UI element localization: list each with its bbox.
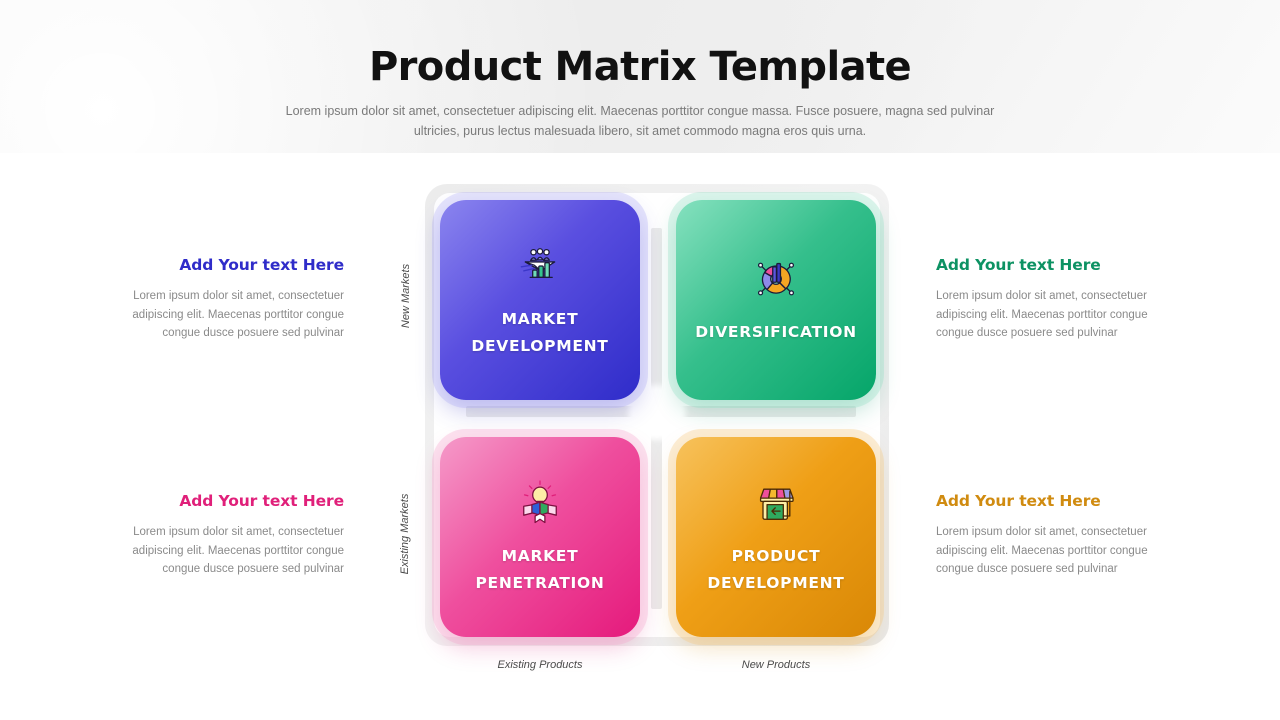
text-block-heading[interactable]: Add Your text Here: [936, 492, 1172, 510]
quadrant-label-line2: DEVELOPMENT: [707, 570, 844, 597]
text-block-heading[interactable]: Add Your text Here: [108, 256, 344, 274]
text-block-market-penetration: Add Your text Here Lorem ipsum dolor sit…: [108, 492, 344, 579]
idea-lightbulb-box-icon: [514, 477, 566, 529]
quadrant-label-market-development: MARKET DEVELOPMENT: [471, 306, 608, 360]
quadrant-label-line1: DIVERSIFICATION: [695, 319, 857, 346]
pie-chart-network-icon: [750, 253, 802, 305]
text-block-body[interactable]: Lorem ipsum dolor sit amet, consectetuer…: [108, 287, 344, 343]
page-title: Product Matrix Template: [0, 44, 1280, 90]
quadrant-label-market-penetration: MARKET PENETRATION: [476, 543, 605, 597]
text-block-market-development: Add Your text Here Lorem ipsum dolor sit…: [108, 256, 344, 343]
axis-label-existing-markets: Existing Markets: [399, 479, 411, 589]
matrix-center-cross: [628, 385, 686, 440]
quadrant-label-line2: PENETRATION: [476, 570, 605, 597]
text-block-body[interactable]: Lorem ipsum dolor sit amet, consectetuer…: [108, 523, 344, 579]
text-block-heading[interactable]: Add Your text Here: [936, 256, 1172, 274]
axis-label-new-markets: New Markets: [400, 246, 412, 346]
quadrant-label-diversification: DIVERSIFICATION: [695, 319, 857, 346]
quadrant-label-product-development: PRODUCT DEVELOPMENT: [707, 543, 844, 597]
quadrant-card-diversification[interactable]: DIVERSIFICATION: [676, 200, 876, 400]
axis-label-new-products: New Products: [676, 659, 876, 671]
quadrant-card-market-penetration[interactable]: MARKET PENETRATION: [440, 437, 640, 637]
text-block-body[interactable]: Lorem ipsum dolor sit amet, consectetuer…: [936, 287, 1172, 343]
text-block-diversification: Add Your text Here Lorem ipsum dolor sit…: [936, 256, 1172, 343]
quadrant-label-line1: MARKET: [476, 543, 605, 570]
quadrant-label-line1: PRODUCT: [707, 543, 844, 570]
text-block-product-development: Add Your text Here Lorem ipsum dolor sit…: [936, 492, 1172, 579]
quadrant-card-market-development[interactable]: MARKET DEVELOPMENT: [440, 200, 640, 400]
quadrant-card-product-development[interactable]: PRODUCT DEVELOPMENT: [676, 437, 876, 637]
page-subtitle: Lorem ipsum dolor sit amet, consectetuer…: [272, 101, 1008, 141]
text-block-heading[interactable]: Add Your text Here: [108, 492, 344, 510]
growth-chart-team-icon: [514, 240, 566, 292]
storefront-shop-icon: [750, 477, 802, 529]
axis-label-existing-products: Existing Products: [440, 659, 640, 671]
text-block-body[interactable]: Lorem ipsum dolor sit amet, consectetuer…: [936, 523, 1172, 579]
quadrant-label-line2: DEVELOPMENT: [471, 333, 608, 360]
quadrant-label-line1: MARKET: [471, 306, 608, 333]
